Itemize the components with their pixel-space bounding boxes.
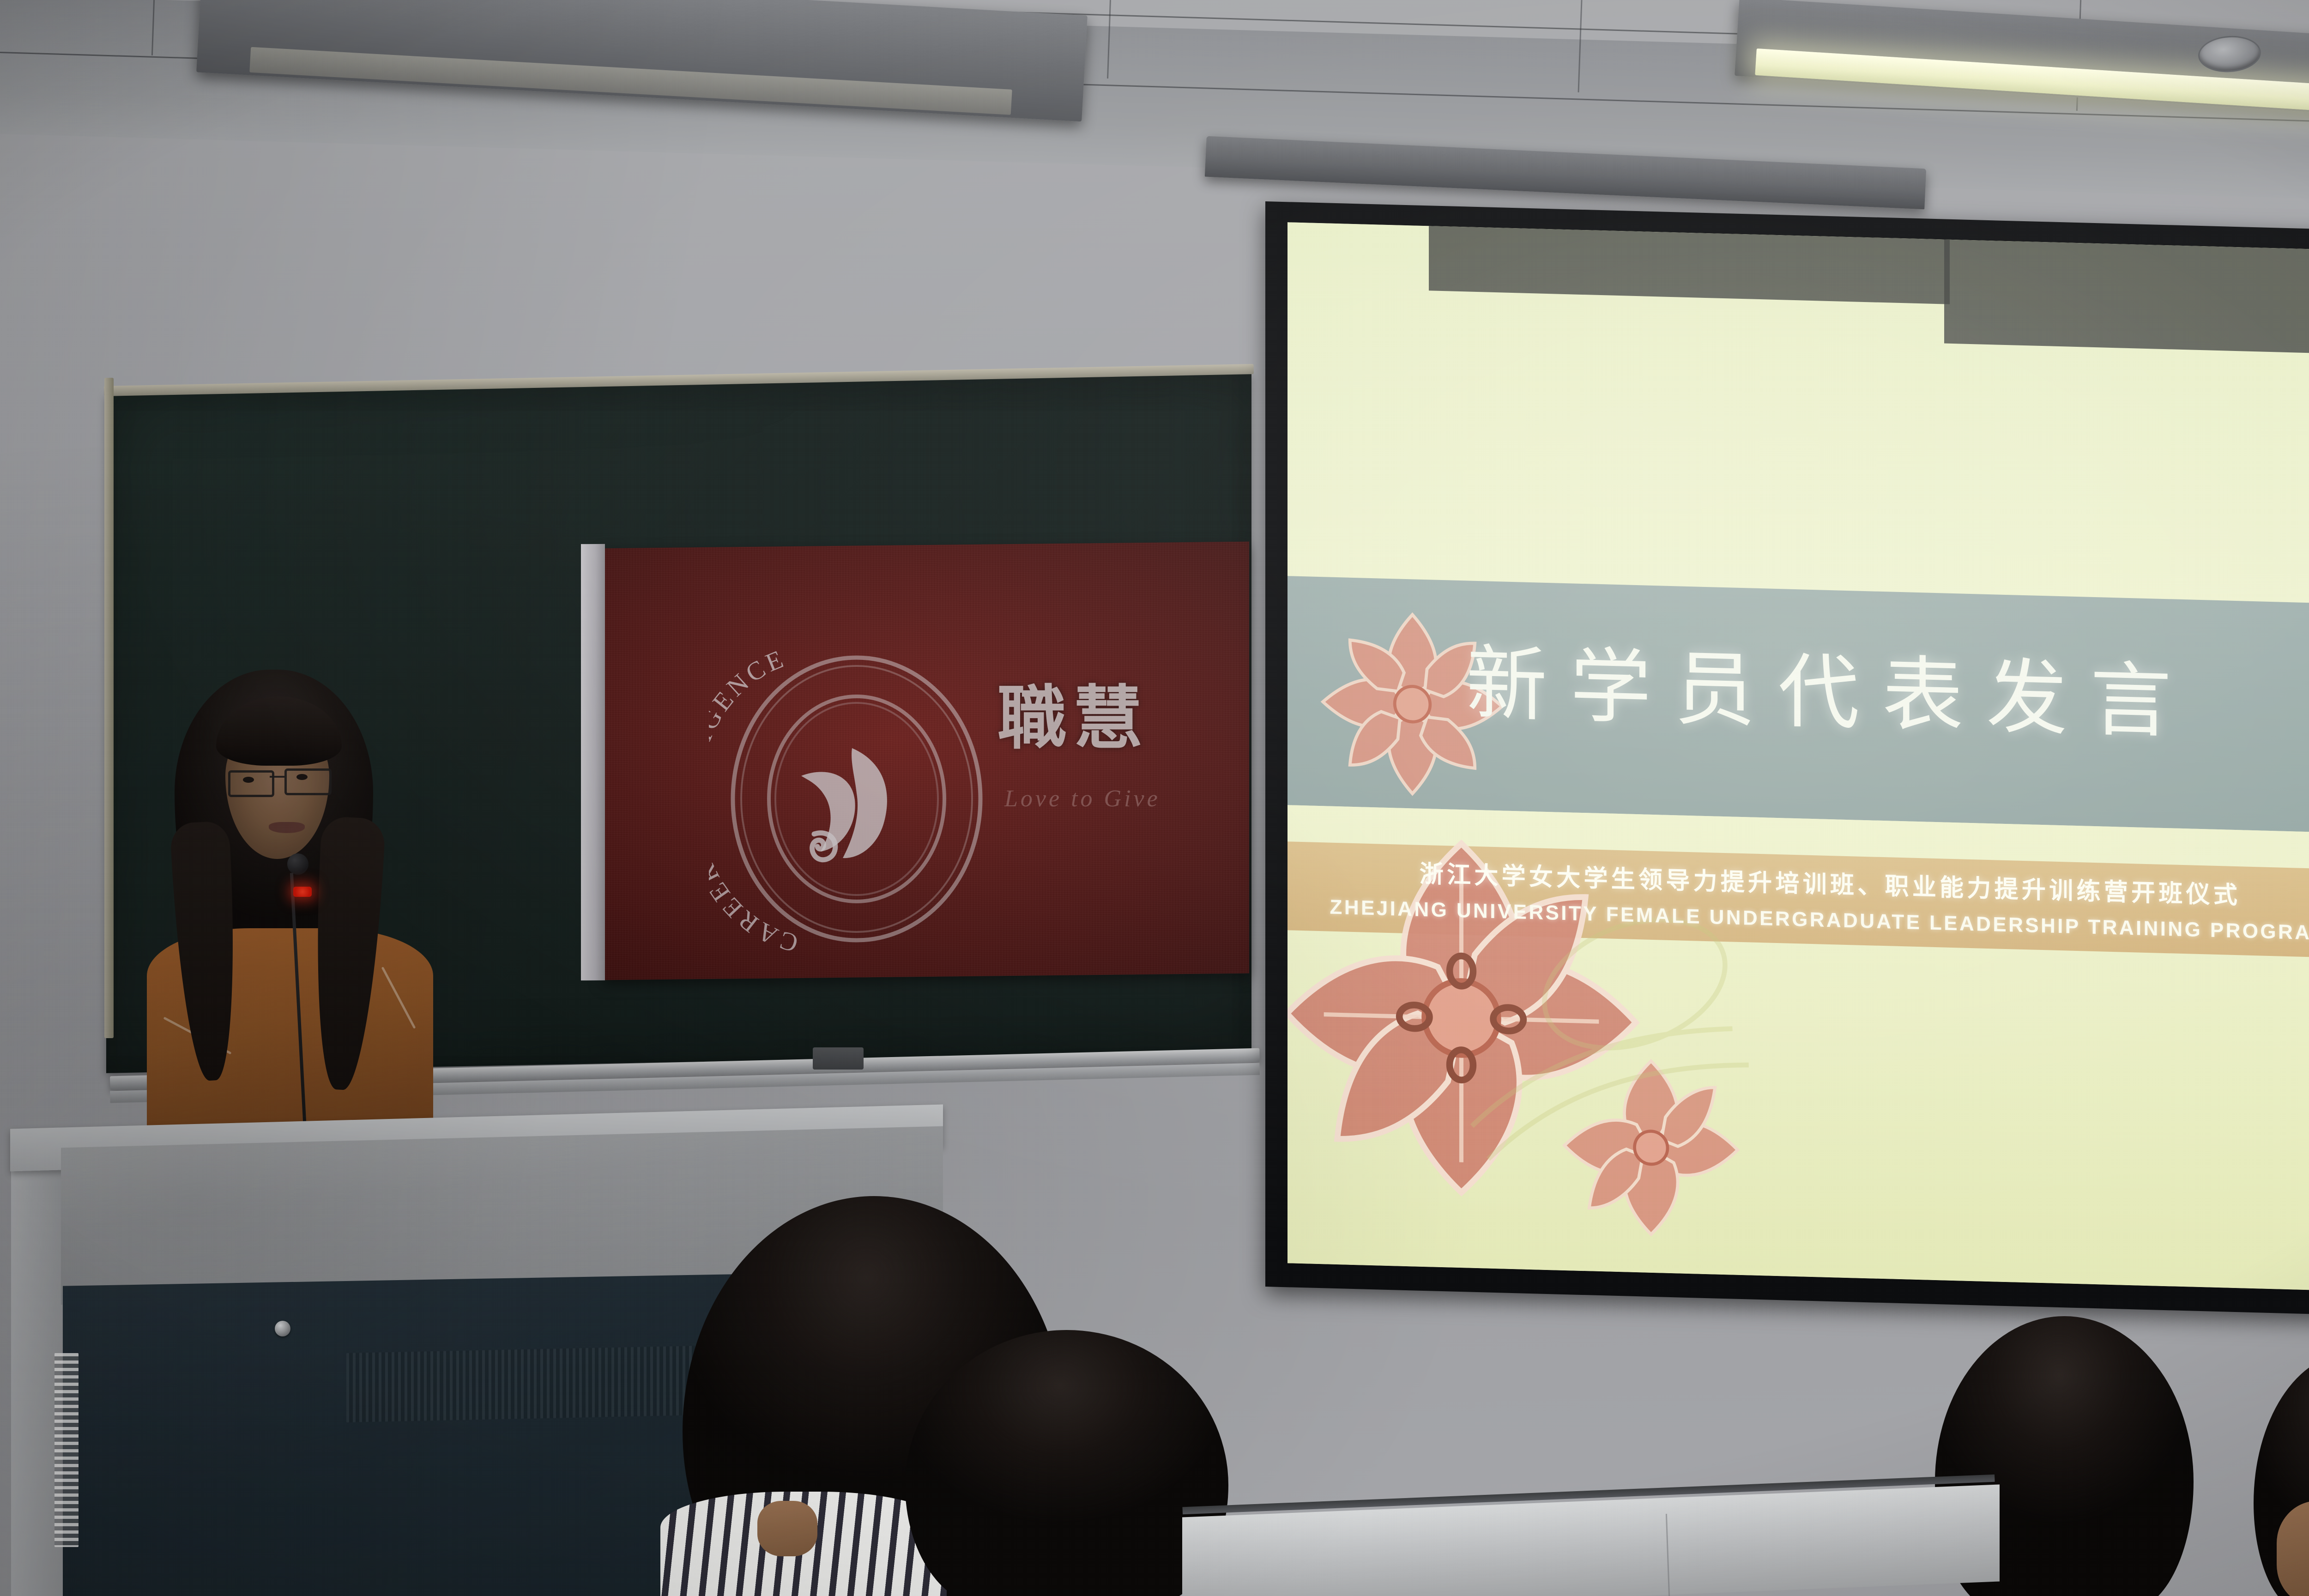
classroom-scene: CAREER INTELLIGENCE 職慧 Love to Give	[0, 0, 2309, 1596]
blackboard-eraser	[813, 1047, 864, 1070]
projection-screen-surface: 新学员代表发言 浙江大学女大学生领导力提升培训班、职业能力提升训练营开班仪式 Z…	[1287, 222, 2309, 1292]
microphone-head-icon	[287, 853, 308, 875]
banner-tagline: Love to Give	[1004, 785, 1161, 812]
banner-edge-strip	[581, 544, 605, 980]
projector-shadow	[1944, 239, 2309, 354]
glasses-lens-left	[228, 770, 274, 797]
microphone-led-indicator	[293, 887, 312, 897]
speaker-mouth	[269, 822, 305, 833]
lectern-side-vent	[54, 1353, 79, 1547]
glasses-bridge	[270, 776, 284, 778]
projector-shadow	[1429, 226, 1950, 304]
banner-chinese-name: 職慧	[997, 683, 1149, 753]
speaker-glasses-icon	[227, 768, 331, 797]
speaker-person	[106, 670, 466, 1131]
career-intelligence-logo: CAREER INTELLIGENCE	[709, 647, 1004, 951]
audience-member-striped-arm	[757, 1501, 817, 1556]
lectern-latch-left[interactable]	[275, 1321, 290, 1336]
projection-screen-frame: 新学员代表发言 浙江大学女大学生领导力提升培训班、职业能力提升训练营开班仪式 Z…	[1265, 201, 2309, 1316]
speaker-eye-right	[296, 774, 308, 780]
glasses-lens-right	[284, 768, 332, 795]
speaker-eye-left	[243, 777, 254, 783]
